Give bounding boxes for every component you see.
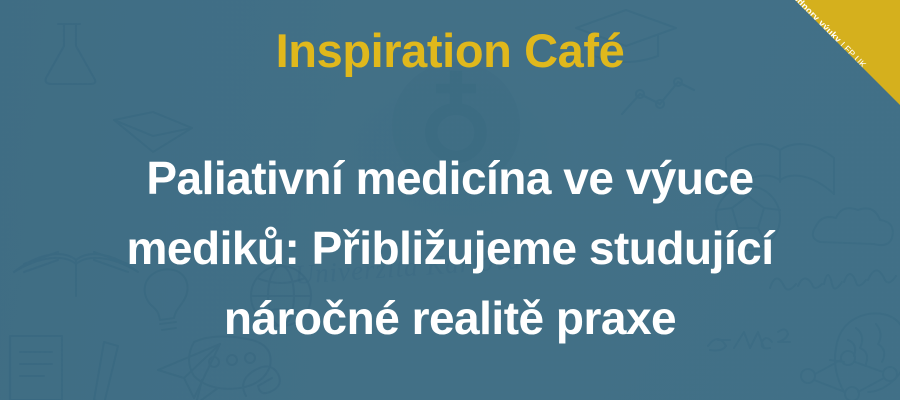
promo-banner: ♁ Univerzita Karlova (0, 0, 900, 400)
banner-eyebrow: Inspiration Café (0, 26, 900, 75)
banner-headline: Paliativní medicína ve výuce mediků: Při… (0, 143, 900, 353)
banner-content: Inspiration Café Paliativní medicína ve … (0, 0, 900, 400)
headline-line-1: Paliativní medicína ve výuce (0, 143, 900, 213)
headline-line-3: náročné realitě praxe (0, 283, 900, 353)
headline-line-2: mediků: Přibližujeme studující (0, 213, 900, 283)
